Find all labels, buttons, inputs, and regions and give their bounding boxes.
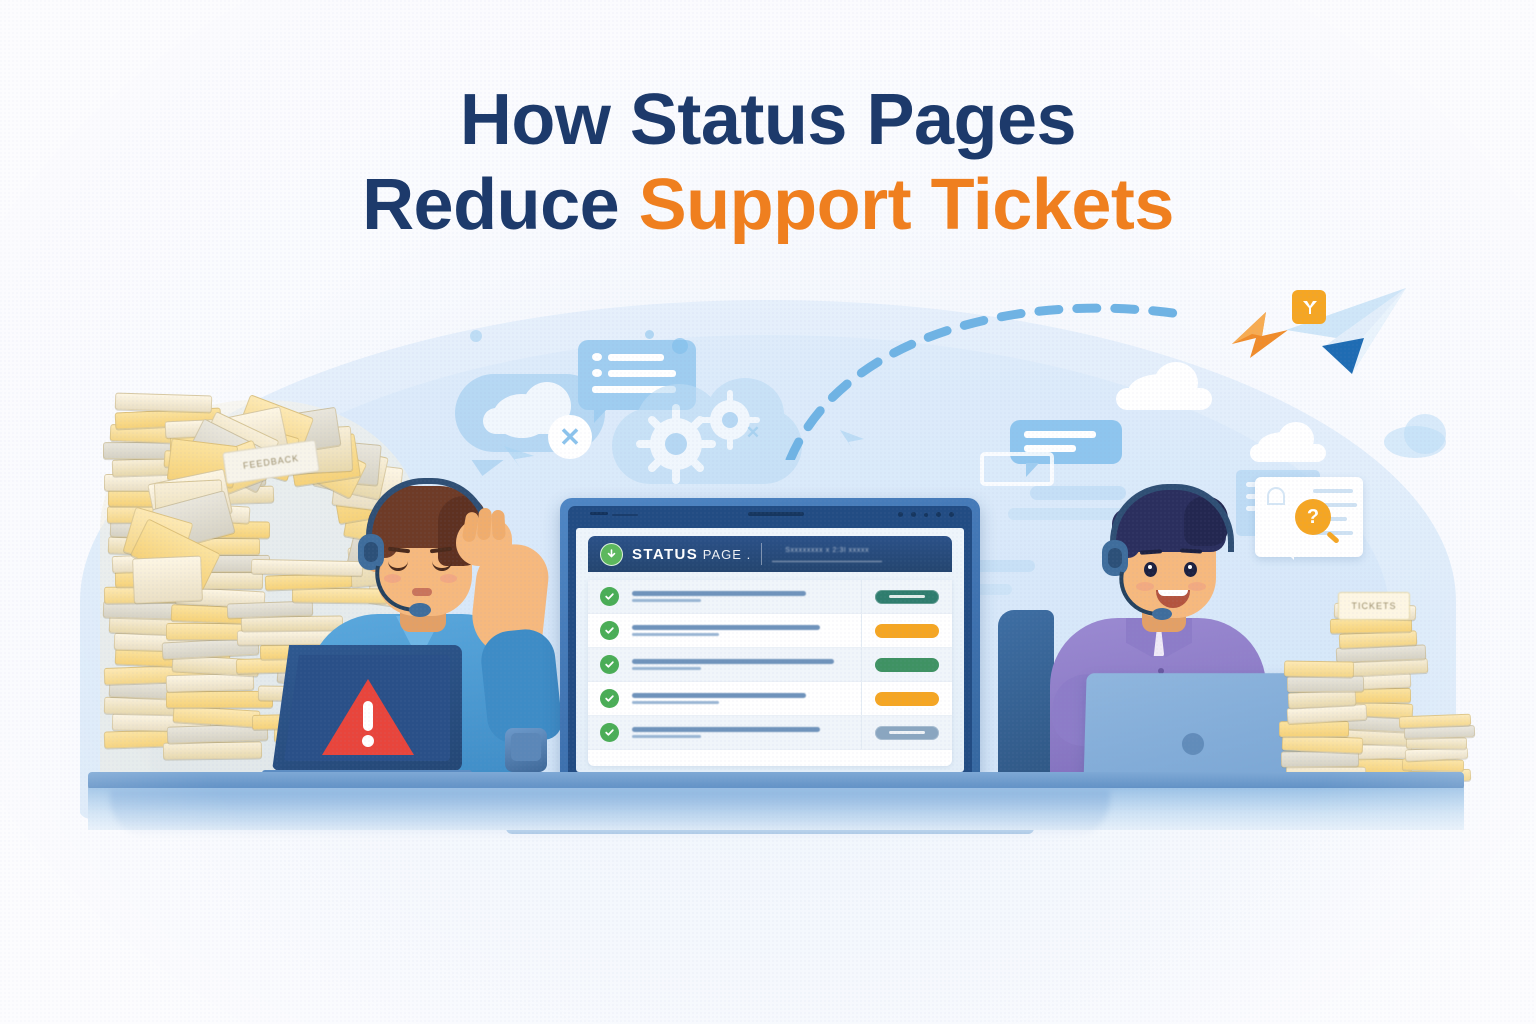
title-line-2-orange: Support Tickets	[639, 165, 1174, 245]
status-row-text	[632, 659, 861, 670]
status-row[interactable]	[588, 648, 952, 682]
check-icon	[600, 587, 619, 606]
warning-triangle-icon	[320, 675, 416, 764]
page-title: How Status Pages Reduce Support Tickets	[0, 78, 1536, 248]
ticket-stack: TICKETS	[1276, 590, 1476, 780]
status-row[interactable]	[588, 682, 952, 716]
status-badge	[862, 692, 952, 706]
ticket-stack-label: TICKETS	[1338, 592, 1410, 620]
status-page-title-main: STATUS	[632, 546, 698, 563]
status-page-title: STATUS PAGE .	[632, 546, 751, 563]
sparkle-dot-icon	[470, 330, 482, 342]
envelope	[1287, 676, 1364, 693]
headset-band	[1110, 484, 1234, 552]
paper-plane-icon	[1278, 286, 1418, 378]
envelope	[1287, 689, 1355, 708]
headset-mic	[1116, 570, 1186, 624]
title-line-2-dark: Reduce	[362, 165, 639, 245]
download-arrow-icon	[600, 543, 623, 566]
title-line-1: How Status Pages	[0, 78, 1536, 163]
status-row-text	[632, 727, 861, 738]
desk-device	[505, 728, 547, 772]
cloud-icon	[1116, 388, 1212, 410]
envelope	[115, 393, 212, 413]
main-laptop-screen: STATUS PAGE . Sxxxxxxxx x 2:3l xxxxx	[576, 528, 964, 772]
placeholder-bar	[975, 560, 1035, 572]
status-row-text	[632, 625, 861, 636]
sparkle-dot-icon	[672, 338, 688, 354]
check-icon	[600, 723, 619, 742]
desk-reflection	[110, 790, 1110, 838]
status-badge	[862, 590, 952, 604]
status-page-rows	[588, 580, 952, 766]
status-row-text	[632, 693, 861, 704]
envelope	[132, 555, 203, 602]
status-badge	[862, 658, 952, 672]
status-page-meta: Sxxxxxxxx x 2:3l xxxxx	[772, 546, 882, 562]
left-laptop	[272, 645, 462, 783]
main-laptop-bezel: STATUS PAGE . Sxxxxxxxx x 2:3l xxxxx	[568, 506, 972, 778]
orange-tag-icon	[1292, 290, 1326, 324]
status-row[interactable]	[588, 580, 952, 614]
gears-cloud-icon	[612, 378, 802, 496]
envelope	[166, 673, 255, 692]
status-page-header: STATUS PAGE . Sxxxxxxxx x 2:3l xxxxx	[588, 536, 952, 572]
main-laptop-lid: STATUS PAGE . Sxxxxxxxx x 2:3l xxxxx	[560, 498, 980, 784]
laptop-logo	[1181, 733, 1203, 755]
check-icon	[600, 655, 619, 674]
status-badge	[862, 726, 952, 740]
illustration-canvas: How Status Pages Reduce Support Tickets …	[0, 0, 1536, 1024]
cloud-icon	[1404, 414, 1446, 454]
check-icon	[600, 689, 619, 708]
status-page-title-sub: PAGE .	[698, 547, 751, 562]
envelope	[163, 741, 262, 759]
header-divider	[761, 543, 762, 565]
status-row[interactable]	[588, 716, 952, 750]
cloud-icon	[1250, 444, 1326, 462]
status-row[interactable]	[588, 614, 952, 648]
status-badge	[862, 624, 952, 638]
envelope	[1284, 660, 1354, 677]
check-icon	[600, 621, 619, 640]
title-line-2: Reduce Support Tickets	[0, 163, 1536, 248]
x-error-icon-small: ✕	[738, 418, 768, 448]
magnifier-question-icon: ?	[1295, 499, 1331, 535]
sparkle-dot-icon	[645, 330, 654, 339]
headset-mic	[372, 564, 442, 618]
status-row-text	[632, 591, 861, 602]
